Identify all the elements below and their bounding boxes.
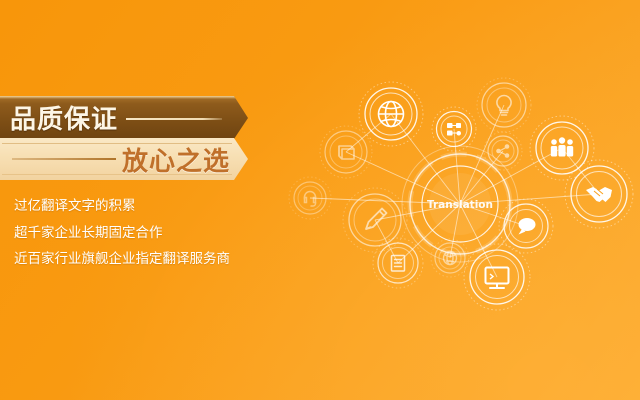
node-globe-icon[interactable] [359,82,423,146]
globe-small-icon [444,252,457,265]
headline-bar: 品质保证 [0,96,248,139]
node-people-group-icon[interactable] [530,116,594,180]
subhead-bar: 放心之选 [0,138,248,180]
bullet-item: 过亿翻译文字的积累 [14,200,290,214]
network-connectors [310,105,599,277]
bullet-list: 过亿翻译文字的积累 超千家企业长期固定合作 近百家行业旗舰企业指定翻译服务商 [14,200,290,267]
bullet-item: 近百家行业旗舰企业指定翻译服务商 [14,253,290,267]
subhead-text: 放心之选 [122,141,230,178]
hub-label: Translation [427,199,493,211]
node-pencil-icon[interactable] [343,188,407,252]
node-document-list-icon[interactable] [373,238,423,288]
chat-bubble-icon [519,218,536,235]
document-list-icon [392,256,405,272]
headline-text: 品质保证 [10,99,118,136]
sitemap-icon [447,123,461,136]
banner-canvas: Translation [0,0,640,400]
monitor-icon [486,268,509,289]
node-headset-icon[interactable] [289,177,331,219]
bullet-item: 超千家企业长期固定合作 [14,227,290,241]
headline-rule [126,118,222,120]
globe-icon [379,102,404,127]
pencil-icon [366,209,387,230]
handshake-icon [586,187,612,202]
node-lightbulb-icon[interactable] [477,78,531,132]
headset-icon [305,192,316,207]
promo-text-block: 品质保证 放心之选 过亿翻译文字的积累 超千家企业长期固定合作 近百家行业旗舰企… [0,96,290,280]
node-globe-small-icon[interactable] [431,239,469,277]
book-icon [339,146,354,159]
share-icon [496,144,509,158]
node-sitemap-icon[interactable] [432,107,476,151]
translation-network-graphic: Translation [278,72,640,328]
subhead-rule [12,158,116,160]
node-monitor-icon[interactable] [464,244,530,310]
node-share-icon[interactable] [484,132,522,170]
people-group-icon [551,137,573,156]
lightbulb-icon [497,95,511,115]
node-handshake-icon[interactable] [565,160,633,228]
node-chat-bubble-icon[interactable] [499,199,553,253]
network-hub: Translation [402,146,518,262]
node-book-icon[interactable] [320,126,372,178]
